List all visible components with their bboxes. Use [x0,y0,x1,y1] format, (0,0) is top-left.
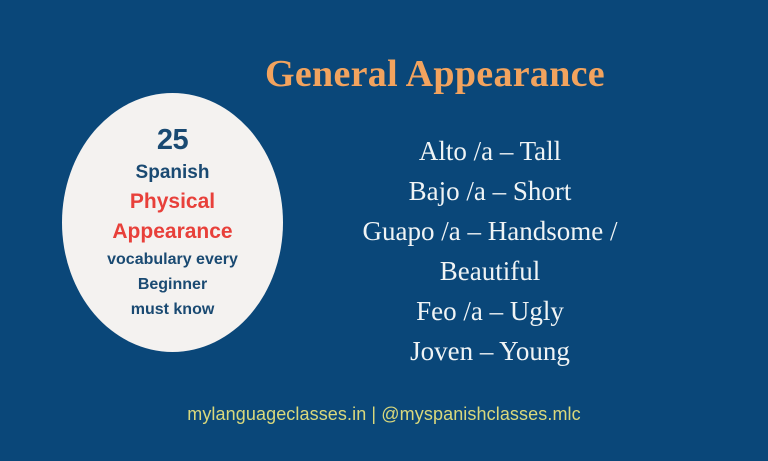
badge-line-topic-1: Physical [74,187,271,217]
vocabulary-count-badge: 25 Spanish Physical Appearance vocabular… [62,93,283,352]
badge-line-subtitle-2: Beginner [74,272,271,297]
vocabulary-line: Beautiful [290,251,690,291]
page-title: General Appearance [250,52,620,96]
badge-line-count: 25 [74,123,271,157]
vocabulary-line: Guapo /a – Handsome / [290,211,690,251]
vocabulary-line: Alto /a – Tall [290,131,690,171]
badge-line-topic-2: Appearance [74,217,271,247]
badge-line-language: Spanish [74,159,271,187]
vocabulary-line: Bajo /a – Short [290,171,690,211]
vocabulary-list: Alto /a – Tall Bajo /a – Short Guapo /a … [290,131,690,371]
footer-credit: mylanguageclasses.in | @myspanishclasses… [0,402,768,426]
vocabulary-line: Feo /a – Ugly [290,291,690,331]
slide-canvas: General Appearance 25 Spanish Physical A… [0,0,768,461]
vocabulary-line: Joven – Young [290,331,690,371]
badge-line-subtitle-1: vocabulary every [74,247,271,272]
badge-line-subtitle-3: must know [74,297,271,322]
